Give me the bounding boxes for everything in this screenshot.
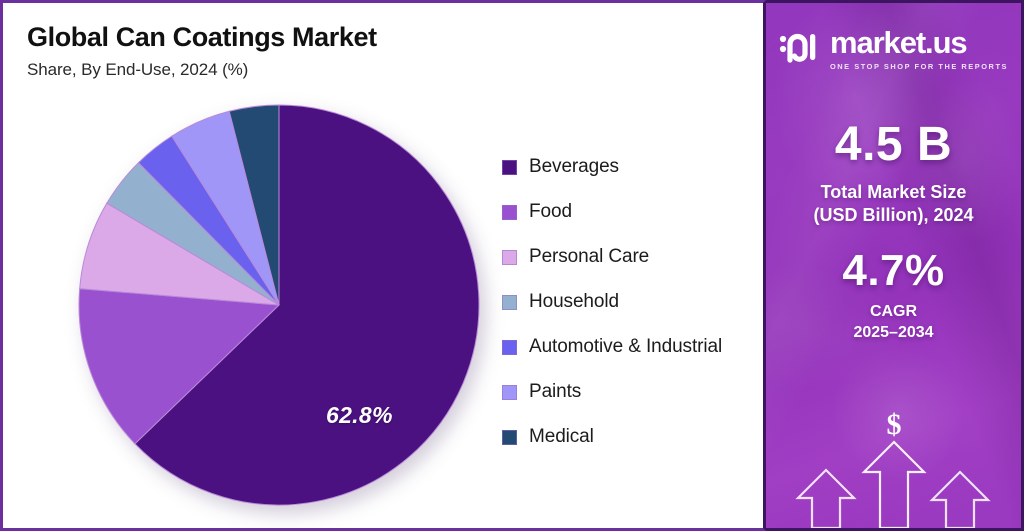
pie-canvas xyxy=(78,104,480,506)
legend-swatch-icon xyxy=(502,295,517,310)
arrow-up-center-icon xyxy=(864,442,924,528)
market-size-caption: Total Market Size (USD Billion), 2024 xyxy=(766,181,1021,227)
pie-svg xyxy=(78,104,480,506)
page-subtitle: Share, By End-Use, 2024 (%) xyxy=(27,60,377,80)
brand-panel: market.us ONE STOP SHOP FOR THE REPORTS … xyxy=(766,0,1024,531)
brand-content: market.us ONE STOP SHOP FOR THE REPORTS … xyxy=(766,27,1021,344)
legend-item-label: Automotive & Industrial xyxy=(529,336,722,358)
brand-name: market.us xyxy=(830,25,967,60)
brand-logo: market.us ONE STOP SHOP FOR THE REPORTS xyxy=(766,27,1021,71)
infographic-root: Global Can Coatings Market Share, By End… xyxy=(0,0,1024,531)
legend-swatch-icon xyxy=(502,385,517,400)
legend-item-label: Food xyxy=(529,201,572,223)
pie-slice-label-beverages: 62.8% xyxy=(326,402,393,429)
legend-swatch-icon xyxy=(502,340,517,355)
legend-item-label: Household xyxy=(529,291,619,313)
chart-panel: Global Can Coatings Market Share, By End… xyxy=(0,0,766,531)
arrow-up-left-icon xyxy=(798,470,854,528)
arrow-up-right-icon xyxy=(932,472,988,528)
growth-arrows-graphic: $ xyxy=(766,408,1021,528)
cagr-caption-line1: CAGR xyxy=(766,302,1021,323)
market-size-caption-line1: Total Market Size xyxy=(766,181,1021,204)
market-size-value: 4.5 B xyxy=(766,121,1021,169)
legend-item[interactable]: Automotive & Industrial xyxy=(502,336,722,358)
legend-item[interactable]: Food xyxy=(502,201,722,223)
legend-item[interactable]: Personal Care xyxy=(502,246,722,268)
legend-item-label: Personal Care xyxy=(529,246,649,268)
brand-logo-text: market.us ONE STOP SHOP FOR THE REPORTS xyxy=(830,27,1008,71)
legend-item[interactable]: Household xyxy=(502,291,722,313)
legend-item[interactable]: Paints xyxy=(502,381,722,403)
pie-slice-group xyxy=(79,105,479,505)
chart-legend: BeveragesFoodPersonal CareHouseholdAutom… xyxy=(502,156,722,471)
legend-item-label: Beverages xyxy=(529,156,619,178)
page-title: Global Can Coatings Market xyxy=(27,23,377,51)
brand-tagline: ONE STOP SHOP FOR THE REPORTS xyxy=(830,62,1008,71)
legend-item-label: Paints xyxy=(529,381,581,403)
pie-chart: 62.8% xyxy=(78,104,480,506)
legend-item[interactable]: Beverages xyxy=(502,156,722,178)
legend-swatch-icon xyxy=(502,430,517,445)
cagr-caption: CAGR 2025–2034 xyxy=(766,302,1021,344)
legend-item-label: Medical xyxy=(529,426,594,448)
legend-swatch-icon xyxy=(502,205,517,220)
market-size-caption-line2: (USD Billion), 2024 xyxy=(766,204,1021,227)
legend-swatch-icon xyxy=(502,250,517,265)
chart-header: Global Can Coatings Market Share, By End… xyxy=(27,23,377,80)
legend-item[interactable]: Medical xyxy=(502,426,722,448)
cagr-caption-line2: 2025–2034 xyxy=(766,323,1021,344)
cagr-value: 4.7% xyxy=(766,249,1021,293)
dollar-sign-icon: $ xyxy=(886,408,901,441)
legend-swatch-icon xyxy=(502,160,517,175)
market-us-logo-icon xyxy=(779,30,821,64)
